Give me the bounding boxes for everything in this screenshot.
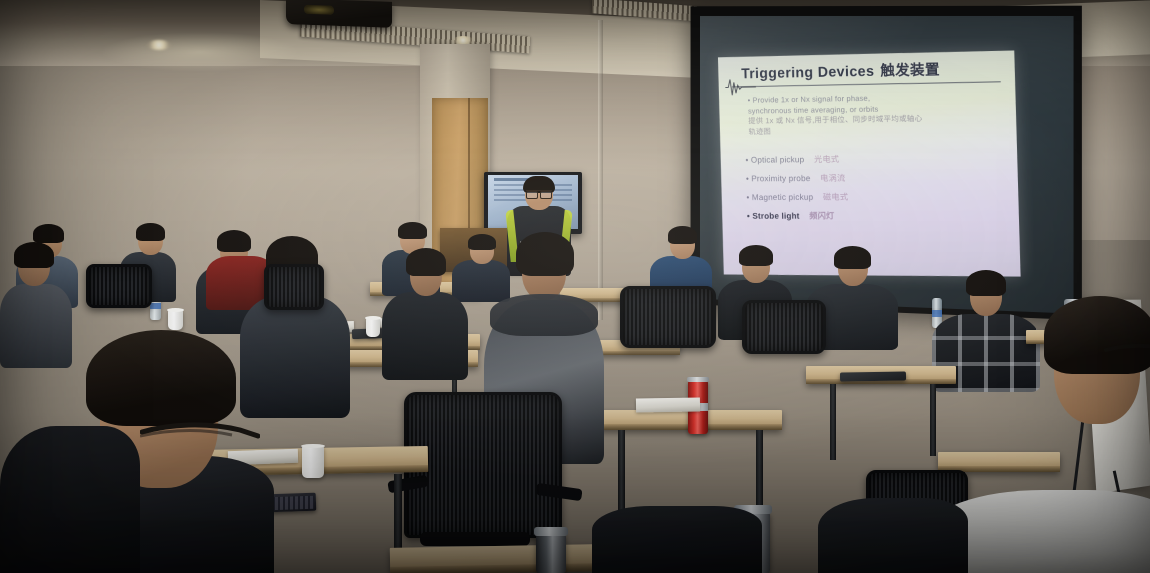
bullet-label-zh: 光电式 — [814, 154, 839, 164]
slide-title: Triggering Devices触发装置 — [741, 57, 999, 83]
attendee — [818, 468, 968, 573]
slide-bullet: • Magnetic pickup磁电式 — [746, 187, 1010, 207]
slide-bullet: • Proximity probe电涡流 — [746, 168, 1010, 189]
bullet-label-en: • Strobe light — [747, 211, 800, 221]
attendee-torso — [382, 292, 468, 380]
attendee-foreground — [0, 376, 140, 573]
office-chair[interactable] — [86, 264, 152, 308]
bullet-label-zh: 电涡流 — [820, 173, 845, 183]
projector — [286, 0, 392, 28]
attendee-torso — [0, 426, 140, 573]
attendee-torso — [592, 506, 762, 573]
slide-bullet: • Strobe light频闪灯 — [747, 206, 1011, 225]
handout-papers — [636, 397, 700, 412]
slide-body-text: • Provide 1x or Nx signal for phase, syn… — [748, 91, 1005, 137]
slide-bullet-list: • Optical pickup光电式 • Proximity probe电涡流… — [745, 148, 1011, 225]
ceiling-downlight — [146, 40, 172, 50]
attendee-hair — [834, 246, 871, 269]
bullet-label-en: • Magnetic pickup — [746, 192, 813, 202]
bullet-label-en: • Optical pickup — [745, 154, 804, 164]
desk — [390, 544, 600, 573]
paper-cup — [168, 310, 183, 330]
office-chair[interactable] — [742, 300, 826, 354]
attendee-hair — [406, 248, 446, 276]
glasses-icon — [140, 418, 260, 458]
attendee — [592, 470, 762, 573]
training-room-photo: Triggering Devices触发装置 • Provide 1x or N… — [0, 0, 1150, 573]
attendee-torso — [818, 498, 968, 573]
attendee-hair — [136, 223, 165, 241]
office-chair[interactable] — [264, 264, 324, 310]
thermos-flask — [536, 534, 566, 573]
attendee-hair — [33, 224, 64, 243]
attendee-hair — [966, 270, 1006, 296]
desk — [590, 410, 782, 430]
attendee — [382, 252, 468, 376]
glasses-icon — [526, 190, 552, 197]
bullet-label-zh: 磁电式 — [823, 192, 848, 202]
attendee-hair — [516, 232, 574, 276]
projector-lens-icon — [304, 5, 334, 15]
slide-body-line: 轨迹图 — [748, 123, 1004, 137]
bullet-label-zh: 频闪灯 — [809, 211, 834, 221]
paper-cup — [302, 446, 324, 478]
presentation-slide: Triggering Devices触发装置 • Provide 1x or N… — [718, 50, 1021, 276]
attendee-hair — [668, 226, 697, 244]
office-chair[interactable] — [620, 286, 716, 348]
attendee-hair — [739, 245, 773, 266]
glasses-icon — [1104, 340, 1150, 374]
paper-cup — [366, 318, 380, 337]
chair-base — [420, 532, 530, 546]
hoodie-hood — [490, 294, 598, 336]
desk-leg — [830, 384, 836, 460]
laptop-closed — [840, 371, 906, 381]
bullet-label-en: • Proximity probe — [746, 173, 811, 183]
slide-title-zh: 触发装置 — [880, 62, 940, 79]
attendee-hair — [398, 222, 427, 239]
attendee-hair — [14, 242, 54, 268]
ceiling-light-glow-left — [100, 32, 300, 72]
slide-bullet: • Optical pickup光电式 — [745, 148, 1009, 169]
desk-leg — [394, 474, 402, 552]
slide-title-en: Triggering Devices — [741, 64, 875, 83]
